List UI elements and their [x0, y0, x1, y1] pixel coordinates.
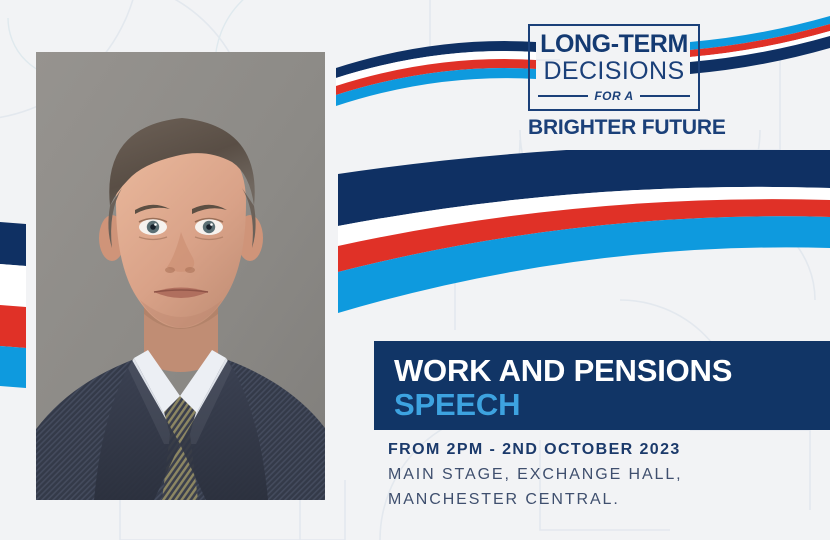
logo-rule-right — [640, 95, 690, 97]
logo-connector-row: FOR A — [538, 90, 690, 102]
campaign-logo-lockup: LONG-TERM DECISIONS FOR A BRIGHTER FUTUR… — [528, 24, 700, 140]
logo-outlined-box: LONG-TERM DECISIONS FOR A — [528, 24, 700, 111]
portrait-photo-image — [36, 52, 325, 500]
ribbon-decoration-main — [332, 150, 830, 330]
logo-connector-text: FOR A — [594, 90, 633, 102]
ribbon-decoration-top-left — [336, 20, 536, 130]
logo-line-decisions: DECISIONS — [538, 59, 690, 84]
event-date-time: FROM 2PM - 2ND OCTOBER 2023 — [388, 441, 818, 459]
logo-rule-left — [538, 95, 588, 97]
left-edge-flag-decoration — [0, 222, 26, 388]
event-announcement-poster: LONG-TERM DECISIONS FOR A BRIGHTER FUTUR… — [0, 0, 830, 540]
event-title-sub: SPEECH — [394, 388, 830, 421]
logo-line-brighter-future: BRIGHTER FUTURE — [528, 116, 700, 140]
event-venue-line-2: MANCHESTER CENTRAL. — [388, 491, 818, 509]
event-title-banner: WORK AND PENSIONS SPEECH — [374, 341, 830, 430]
event-venue-line-1: MAIN STAGE, EXCHANGE HALL, — [388, 466, 818, 484]
event-title-main: WORK AND PENSIONS — [394, 355, 830, 388]
speaker-portrait — [36, 52, 325, 500]
logo-line-long-term: LONG-TERM — [538, 32, 690, 57]
event-details: FROM 2PM - 2ND OCTOBER 2023 MAIN STAGE, … — [388, 441, 818, 509]
ribbon-decoration-top-right — [690, 0, 830, 110]
